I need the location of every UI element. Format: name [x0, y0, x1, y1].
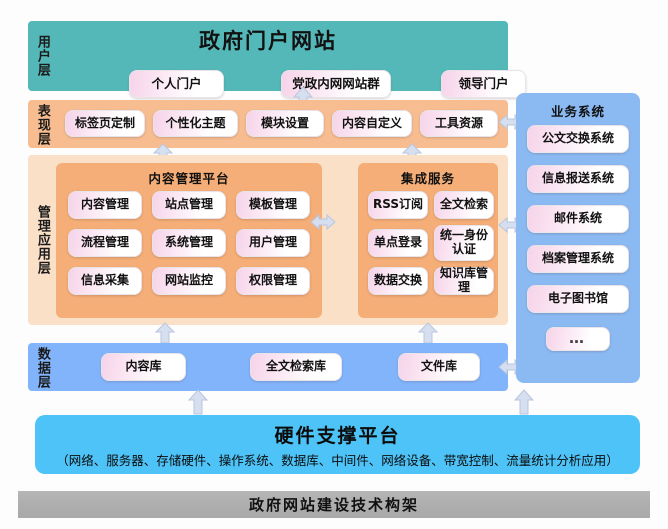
cms-item-7[interactable]: 网站监控 [152, 267, 226, 295]
presentation-layer-label: 表现层 [33, 104, 51, 146]
arrow-up-data-to-integration [418, 322, 438, 344]
cms-item-3[interactable]: 流程管理 [68, 229, 142, 257]
portal-title: 政府门户网站 [28, 25, 508, 55]
integration-item-0[interactable]: RSS订阅 [368, 191, 428, 219]
presentation-item-1[interactable]: 个性化主题 [153, 110, 238, 137]
cms-item-4[interactable]: 系统管理 [152, 229, 226, 257]
business-systems-column: 业务系统 公文交换系统 信息报送系统 邮件系统 档案管理系统 电子图书馆 … [516, 93, 640, 383]
presentation-item-0[interactable]: 标签页定制 [65, 110, 145, 137]
integration-item-4[interactable]: 数据交换 [368, 267, 428, 295]
architecture-diagram: 用户层 政府门户网站 个人门户 党政内网网站群 领导门户 表现层 标签页定制 个… [0, 0, 668, 529]
cms-item-0[interactable]: 内容管理 [68, 191, 142, 219]
cms-item-2[interactable]: 模板管理 [236, 191, 310, 219]
business-item-4[interactable]: 电子图书馆 [527, 285, 629, 313]
business-item-0[interactable]: 公文交换系统 [527, 125, 629, 153]
integration-item-5[interactable]: 知识库管理 [434, 267, 494, 295]
arrow-up-hardware-to-data [188, 389, 208, 415]
presentation-item-2[interactable]: 模块设置 [246, 110, 324, 137]
user-portal-item-0[interactable]: 个人门户 [129, 70, 224, 98]
hardware-platform-subtitle: （网络、服务器、存储硬件、操作系统、数据库、中间件、网络设备、带宽控制、流量统计… [35, 450, 640, 469]
content-management-platform-title: 内容管理平台 [56, 168, 322, 187]
cms-item-1[interactable]: 站点管理 [152, 191, 226, 219]
data-layer-label: 数据层 [33, 347, 51, 389]
business-systems-title: 业务系统 [516, 101, 640, 120]
arrow-lr-cms-to-integration [310, 212, 336, 232]
presentation-item-4[interactable]: 工具资源 [420, 110, 498, 137]
hardware-platform-title: 硬件支撑平台 [35, 421, 640, 448]
business-item-3[interactable]: 档案管理系统 [527, 245, 629, 273]
integration-services-group: 集成服务 RSS订阅 全文检索 单点登录 统一身份认证 数据交换 知识库管理 [358, 163, 498, 318]
business-item-2[interactable]: 邮件系统 [527, 205, 629, 233]
business-item-more[interactable]: … [546, 327, 610, 351]
hardware-platform-band: 硬件支撑平台 （网络、服务器、存储硬件、操作系统、数据库、中间件、网络设备、带宽… [35, 415, 640, 474]
presentation-layer-band: 表现层 标签页定制 个性化主题 模块设置 内容自定义 工具资源 [28, 100, 508, 148]
content-management-platform-group: 内容管理平台 内容管理 站点管理 模板管理 流程管理 系统管理 用户管理 信息采… [56, 163, 322, 318]
presentation-item-3[interactable]: 内容自定义 [332, 110, 412, 137]
data-item-2[interactable]: 文件库 [398, 353, 480, 381]
integration-item-2[interactable]: 单点登录 [368, 229, 428, 257]
user-layer-band: 用户层 政府门户网站 个人门户 党政内网网站群 领导门户 [28, 21, 508, 91]
cms-item-6[interactable]: 信息采集 [68, 267, 142, 295]
integration-item-1[interactable]: 全文检索 [434, 191, 494, 219]
cms-item-5[interactable]: 用户管理 [236, 229, 310, 257]
user-portal-item-2[interactable]: 领导门户 [441, 70, 526, 98]
arrow-up-data-to-cms [155, 322, 175, 344]
diagram-caption: 政府网站建设技术构架 [18, 491, 650, 518]
data-layer-band: 数据层 内容库 全文检索库 文件库 [28, 343, 508, 391]
data-item-0[interactable]: 内容库 [101, 353, 186, 381]
management-layer-band: 管理应用层 内容管理平台 内容管理 站点管理 模板管理 流程管理 系统管理 用户… [28, 155, 508, 325]
cms-item-8[interactable]: 权限管理 [236, 267, 310, 295]
integration-item-3[interactable]: 统一身份认证 [434, 225, 494, 261]
management-layer-label: 管理应用层 [33, 185, 51, 295]
arrow-up-hardware-to-business [514, 389, 534, 415]
business-item-1[interactable]: 信息报送系统 [527, 165, 629, 193]
integration-services-title: 集成服务 [358, 168, 498, 187]
data-item-1[interactable]: 全文检索库 [250, 353, 342, 381]
